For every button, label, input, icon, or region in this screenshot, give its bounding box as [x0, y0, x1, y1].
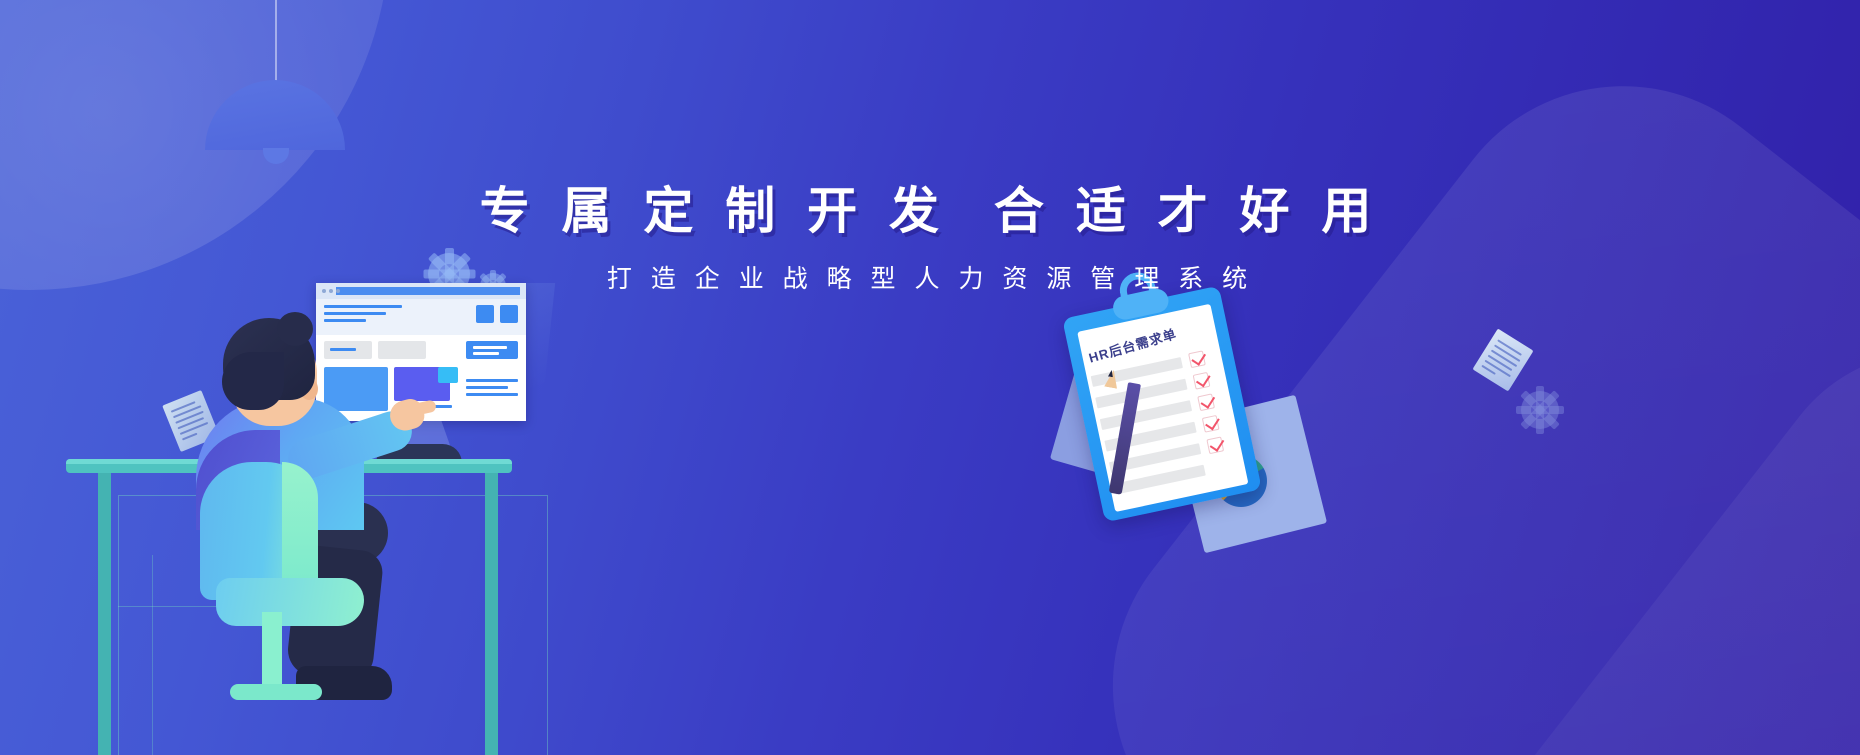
person-hair-bun — [277, 312, 313, 346]
checkmark-icon — [1197, 393, 1215, 411]
content-line-3 — [466, 386, 508, 389]
office-chair-seat — [216, 578, 364, 626]
content-line-2 — [466, 379, 518, 382]
monitor-screen — [316, 283, 526, 421]
background-wireframe-line — [152, 555, 153, 755]
toolbar-button-3 — [466, 341, 518, 359]
desk-leg-right — [485, 473, 498, 755]
toolbar-button-2 — [378, 341, 426, 359]
office-chair-base — [230, 684, 322, 700]
toolbar-button-1 — [324, 341, 372, 359]
clipboard: HR后台需求单 — [1062, 286, 1262, 523]
checkmark-icon — [1193, 372, 1211, 390]
desk-leg-left — [98, 473, 111, 755]
hero-headline: 专 属 定 制 开 发 合 适 才 好 用 — [0, 180, 1860, 243]
header-chip-1 — [476, 305, 494, 323]
content-line-4 — [466, 393, 518, 396]
header-chip-2 — [500, 305, 518, 323]
checkmark-icon — [1188, 350, 1206, 368]
hero-text-block: 专 属 定 制 开 发 合 适 才 好 用 打 造 企 业 战 略 型 人 力 … — [0, 180, 1860, 295]
header-line-3 — [324, 319, 366, 322]
office-chair-post — [262, 612, 282, 690]
header-line-1 — [324, 305, 402, 308]
hero-subheadline: 打 造 企 业 战 略 型 人 力 资 源 管 理 系 统 — [0, 259, 1860, 295]
person-hair-sweep — [222, 352, 284, 410]
gear-icon-right — [1521, 391, 1559, 429]
checkmark-icon — [1206, 436, 1224, 454]
content-card-3 — [438, 367, 458, 383]
header-line-2 — [324, 312, 386, 315]
lamp-cord — [275, 0, 277, 82]
content-card-1 — [324, 367, 388, 411]
hero-banner: HR后台需求单 专 属 定 制 开 发 合 适 才 好 用 打 造 企 业 战 … — [0, 0, 1860, 755]
checkmark-icon — [1202, 415, 1220, 433]
